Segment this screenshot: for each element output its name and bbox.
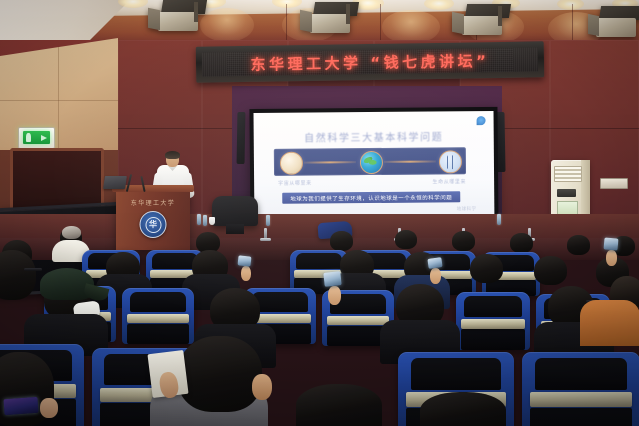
slide-banner-text: 地球为我们提供了生存环境，认识地球是一个永恒的科学问题 [290,193,452,202]
projection-screen: 自然科学三大基本科学问题 宇宙从哪里来 生命从哪里来 地球为我们提供了生存环境，… [249,107,498,231]
paper-cup[interactable] [209,217,215,225]
audience-head [470,254,503,283]
wall-speaker-left [237,112,246,164]
audience-head [567,235,590,255]
audience-hand [241,266,251,281]
led-banner-screen: 东华理工大学 “钱七虎讲坛” [202,47,538,76]
university-emblem: 华 [140,211,167,238]
ac-vent-grille [554,166,582,182]
seat-back-cushion [296,253,341,269]
audience-ear [252,374,272,400]
lecture-hall-photograph: 东华理工大学 “钱七虎讲坛” 自然科学三大基本科学问题 宇宙从哪里来 生命从哪里… [0,0,639,426]
emblem-mark: 华 [149,221,157,229]
seat-lower-cushion [530,408,631,426]
water-bottle[interactable] [197,214,201,225]
stage-spotlight [588,6,639,39]
seat-back-cushion [411,358,501,390]
earth-globe-icon [360,151,383,174]
smartphone[interactable] [238,255,252,266]
running-man-icon [26,133,31,142]
desk-microphone-base [260,238,271,241]
seat-back-cushion [464,296,522,317]
slide-diagram-band [274,147,466,176]
chair-base [226,224,244,234]
presentation-slide: 自然科学三大基本科学问题 宇宙从哪里来 生命从哪里来 地球为我们提供了生存环境，… [254,111,495,227]
audience-head [510,233,533,253]
stage-spotlight [148,0,206,33]
exit-sign [18,127,55,149]
slide-caption-right: 生命从哪里来 [432,178,466,185]
audience-head [452,231,475,251]
led-banner-text: 东华理工大学 “钱七虎讲坛” [250,50,489,75]
smartphone[interactable] [323,271,341,287]
ceiling-light-glow [200,8,254,42]
slide-footer-text: 地球科学 [457,206,477,212]
audience-head [420,392,506,426]
dna-helix-icon [439,150,462,173]
smartphone[interactable] [427,257,442,269]
slide-title: 自然科学三大基本科学问题 [254,128,494,145]
audience-head [296,384,382,426]
audience-body [580,300,639,346]
stage-office-chair[interactable] [212,196,258,226]
slide-highlight-banner: 地球为我们提供了生存环境，认识地球是一个永恒的科学问题 [282,191,460,204]
auditorium-seat[interactable] [122,288,194,344]
water-bottle[interactable] [203,215,207,226]
slide-logo-icon [477,116,486,125]
audience-hand [40,398,58,418]
seat-lower-cushion [461,329,525,350]
audience-head [395,230,417,249]
ceiling-light-glow [382,10,440,44]
stage-spotlight [452,4,510,37]
seat-back-cushion [152,253,197,269]
speaker-hair [165,151,180,159]
audience-hand [606,250,617,266]
eyeglasses [24,268,42,271]
smartphone[interactable] [3,397,38,415]
moon-icon [280,152,303,175]
audience-hand [328,286,341,305]
led-banner: 东华理工大学 “钱七虎讲坛” [196,41,545,82]
water-bottle[interactable] [266,215,270,226]
diagram-connector [304,161,356,163]
audience-hand [430,268,441,284]
diagram-connector [384,160,436,162]
audience-head [330,231,353,251]
seat-back-cushion [130,292,186,312]
water-bottle[interactable] [497,214,501,225]
slide-caption-left: 宇宙从哪里来 [278,180,312,187]
seat-lower-cushion [127,324,189,344]
lectern-podium: 东华理工大学 华 [116,190,190,250]
wall-plaque-right [600,178,628,189]
audience-head [178,336,262,412]
arrow-icon [41,135,47,141]
stage-spotlight [300,2,358,35]
auditorium-seat[interactable] [522,352,639,426]
exit-sign-face [23,131,50,144]
auditorium-seat[interactable] [456,292,530,350]
seat-back-cushion [252,292,308,312]
podium-institution-text: 东华理工大学 [116,198,190,207]
audience-head [534,256,567,285]
ac-control-panel[interactable] [557,189,576,197]
smartphone[interactable] [604,237,619,250]
podium-laptop[interactable] [103,176,127,189]
seat-back-cushion [535,358,627,390]
audience-hair [62,226,81,239]
